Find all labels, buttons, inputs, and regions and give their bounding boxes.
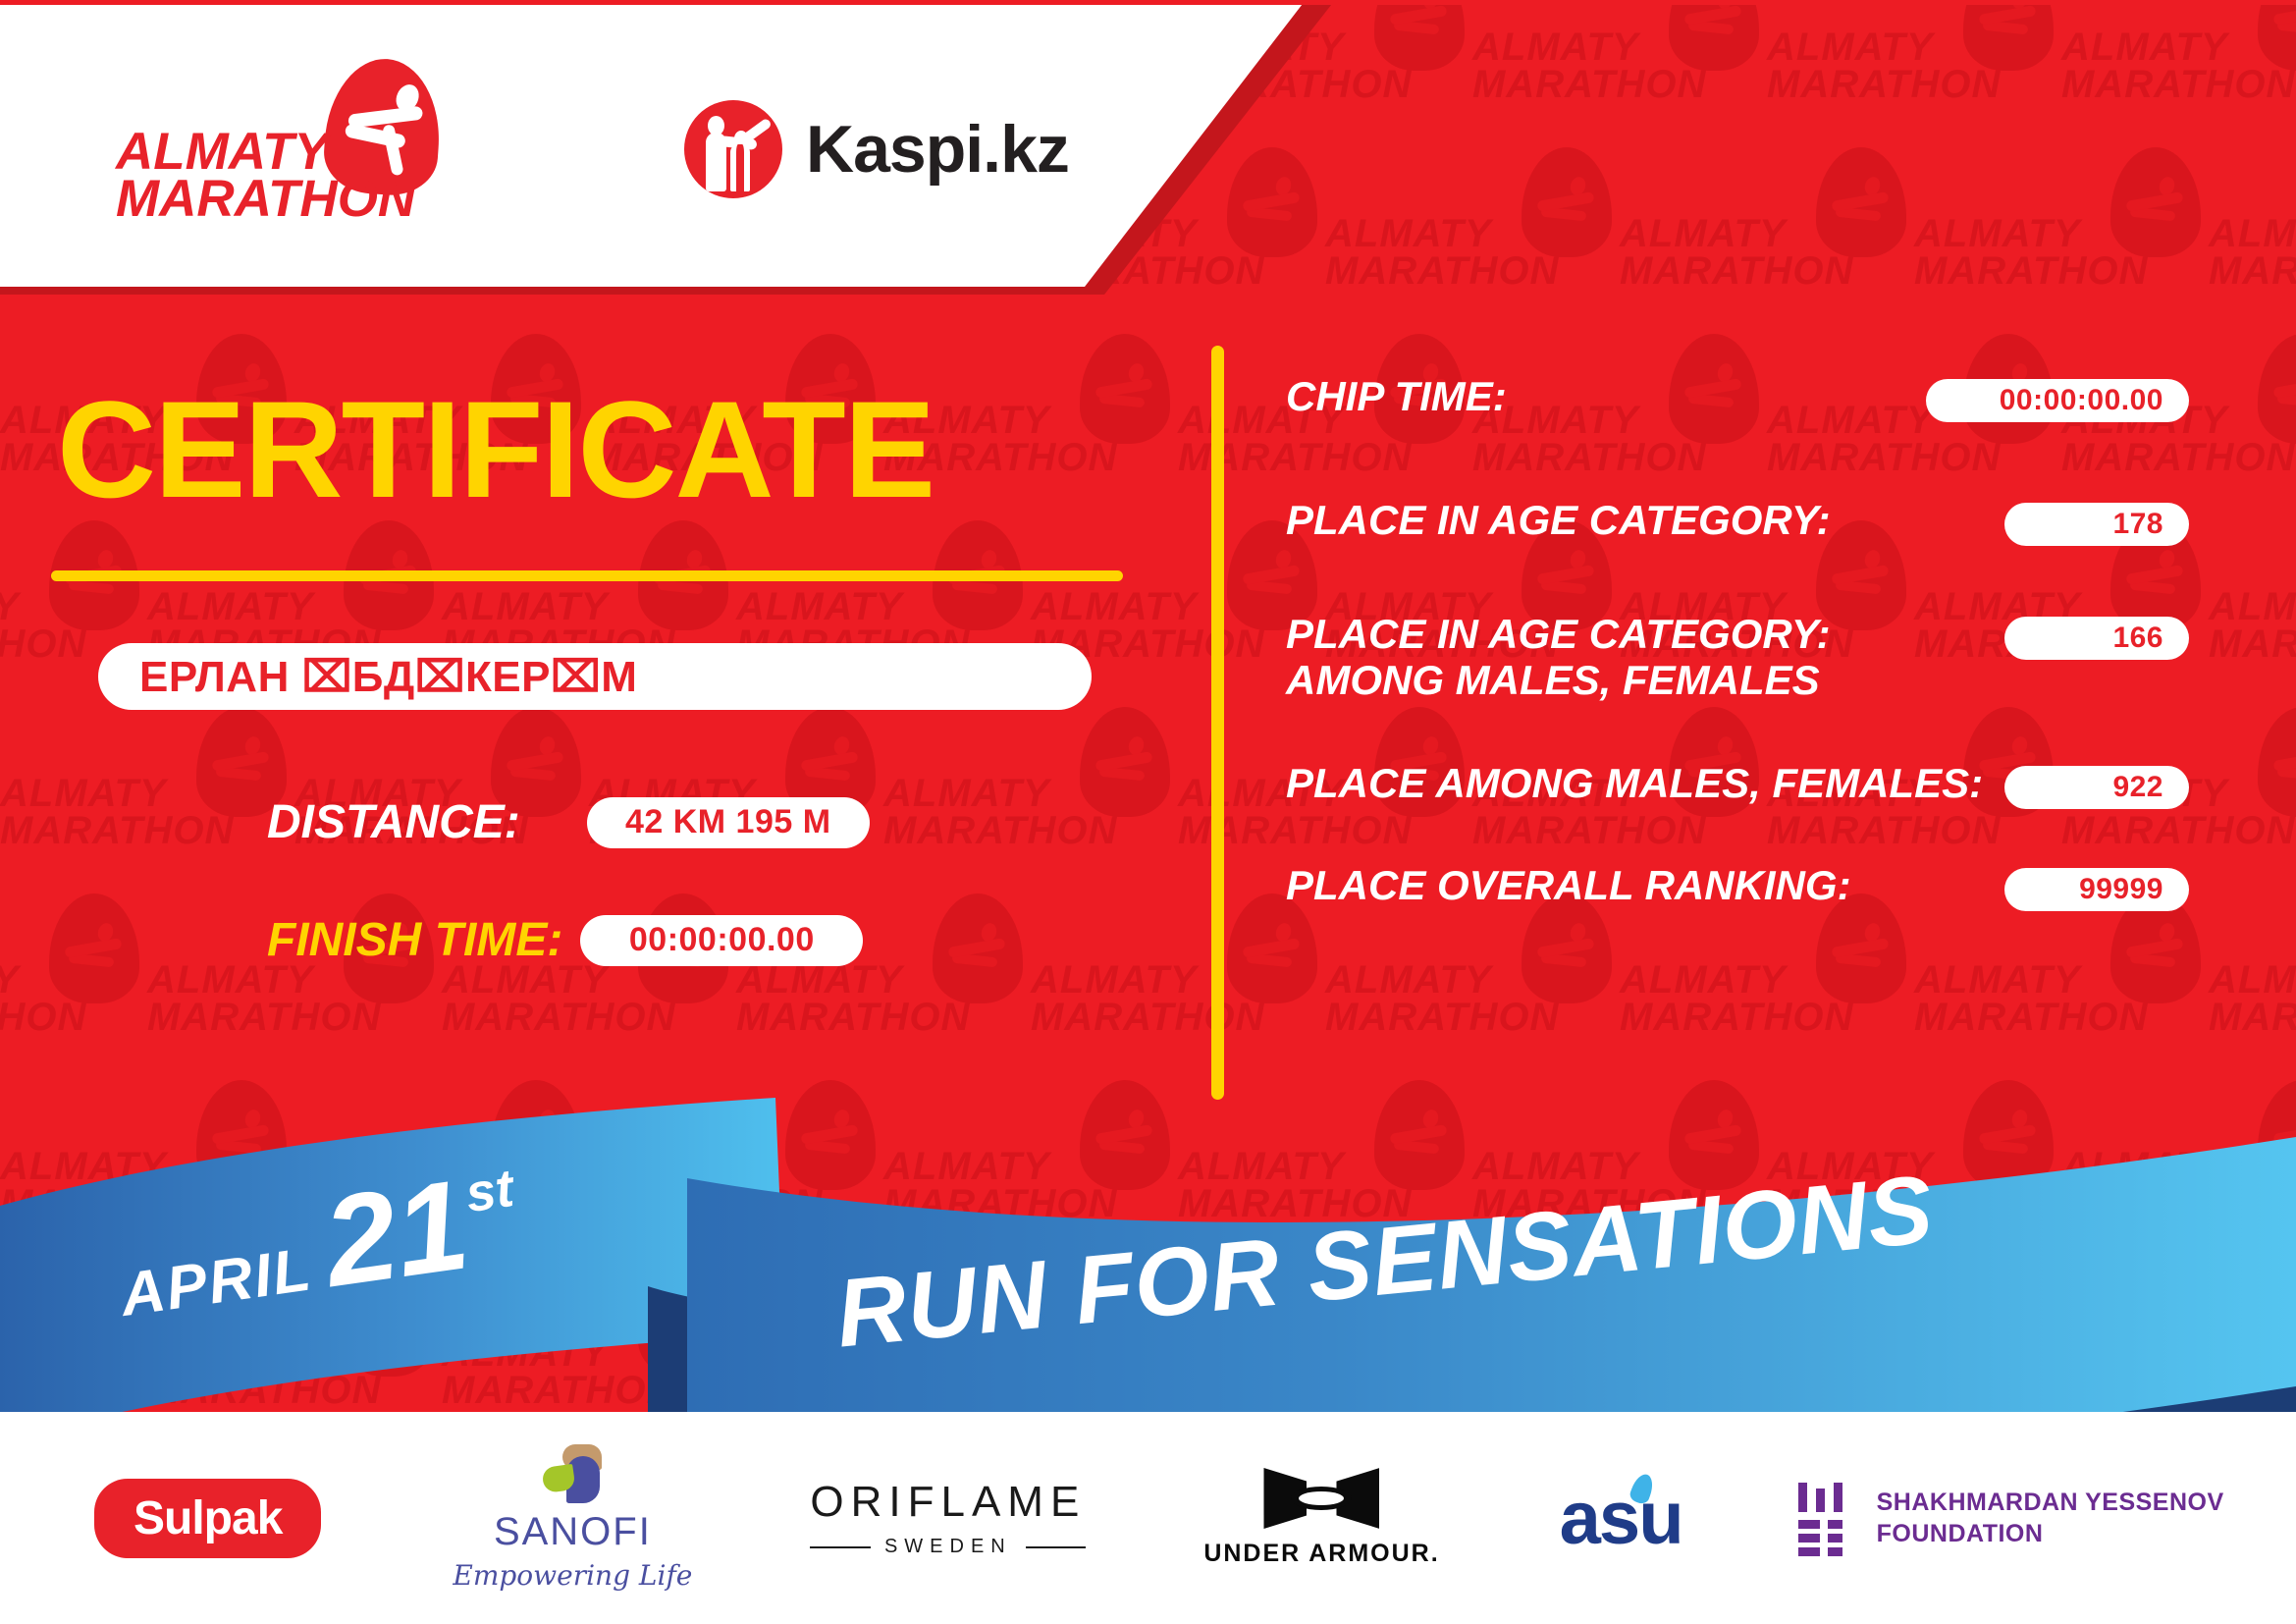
watermark-tile: ALMATYMARATHON [1031, 893, 1325, 1080]
distance-value-pill: 42 KM 195 M [587, 797, 870, 848]
sponsor-bar: Sulpak SANOFI Empowering Life ORIFLAME S… [0, 1412, 2296, 1624]
stat-value: 00:00:00.00 [2000, 384, 2163, 417]
kaspi-family-circle-icon [684, 100, 782, 198]
stat-value-pill: 99999 [2004, 868, 2189, 911]
top-red-rule [0, 0, 2296, 5]
stat-value-pill: 00:00:00.00 [1926, 379, 2189, 422]
stat-label: PLACE IN AGE CATEGORY: [1286, 497, 2004, 543]
watermark-tile: ALMATYMARATHON [1620, 147, 1914, 334]
watermark-tile: ALMATYMARATHON [0, 707, 294, 893]
distance-row: DISTANCE: 42 KM 195 M [267, 795, 870, 849]
stat-row: PLACE AMONG MALES, FEMALES: 922 [1286, 760, 2189, 809]
watermark-tile: ALMATYMARATHON [2061, 0, 2296, 147]
stat-label: PLACE IN AGE CATEGORY: AMONG MALES, FEMA… [1286, 611, 2004, 703]
kaspi-logo: Kaspi.kz [684, 95, 1069, 203]
sanofi-tagline: Empowering Life [453, 1559, 692, 1592]
under-armour-wordmark: UNDER ARMOUR. [1203, 1540, 1439, 1568]
sulpak-logo: Sulpak [94, 1479, 321, 1558]
runner-figure-icon [341, 78, 437, 174]
stats-column: CHIP TIME: 00:00:00.00 PLACE IN AGE CATE… [1286, 373, 2189, 956]
stat-value: 99999 [2079, 873, 2163, 906]
sulpak-wordmark: Sulpak [133, 1492, 282, 1544]
participant-name-value: ЕРЛАН ⌧БД⌧КЕР⌧М [139, 652, 637, 702]
sponsor-asu: asu [1560, 1476, 1682, 1561]
sponsor-oriflame: ORIFLAME SWEDEN [810, 1478, 1086, 1558]
stat-row: PLACE IN AGE CATEGORY: 178 [1286, 497, 2189, 546]
page-title: CERTIFICATE [57, 381, 934, 518]
stat-row: CHIP TIME: 00:00:00.00 [1286, 373, 2189, 422]
almaty-logo-line2: MARATHON [116, 169, 415, 229]
watermark-tile: ALMATYMARATHON [1767, 0, 2061, 147]
stat-value: 178 [2112, 508, 2163, 541]
sanofi-leaf-icon [537, 1444, 608, 1505]
stat-label: PLACE AMONG MALES, FEMALES: [1286, 760, 2004, 806]
watermark-tile: ALMATYMARATHON [2209, 893, 2296, 1080]
yessenov-line2: FOUNDATION [1877, 1518, 2224, 1550]
stat-label: PLACE OVERALL RANKING: [1286, 862, 2004, 908]
sponsor-sanofi: SANOFI Empowering Life [453, 1444, 692, 1592]
watermark-tile: ALMATYMARATHON [1472, 0, 1767, 147]
stat-value: 166 [2112, 622, 2163, 655]
oriflame-subline: SWEDEN [810, 1536, 1086, 1558]
title-underline [51, 570, 1123, 581]
stat-value-pill: 178 [2004, 503, 2189, 546]
oriflame-country: SWEDEN [884, 1536, 1012, 1558]
asu-label: asu [1560, 1477, 1682, 1560]
stat-value-pill: 922 [2004, 766, 2189, 809]
certificate-canvas: ALMATYMARATHONALMATYMARATHONALMATYMARATH… [0, 0, 2296, 1624]
finish-time-label: FINISH TIME: [267, 913, 562, 967]
finish-time-value-pill: 00:00:00.00 [580, 915, 863, 966]
watermark-tile: ALMATYMARATHON [1914, 147, 2209, 334]
oriflame-wordmark: ORIFLAME [810, 1478, 1086, 1527]
kaspi-wordmark: Kaspi.kz [806, 111, 1069, 188]
stat-row: PLACE IN AGE CATEGORY: AMONG MALES, FEMA… [1286, 611, 2189, 703]
yessenov-wordmark: SHAKHMARDAN YESSENOV FOUNDATION [1877, 1487, 2224, 1550]
stat-value-pill: 166 [2004, 617, 2189, 660]
distance-value: 42 KM 195 M [625, 803, 831, 841]
watermark-tile: ALMATYMARATHON [883, 707, 1178, 893]
asu-wordmark: asu [1560, 1476, 1682, 1561]
event-day: 21 [318, 1166, 474, 1300]
watermark-tile: ALMATYMARATHON [0, 893, 147, 1080]
finish-time-row: FINISH TIME: 00:00:00.00 [267, 913, 863, 967]
event-day-suffix: st [462, 1158, 517, 1224]
finish-time-value: 00:00:00.00 [629, 921, 815, 959]
sponsor-sulpak: Sulpak [94, 1479, 321, 1558]
under-armour-icon [1263, 1468, 1379, 1529]
participant-name-field: ЕРЛАН ⌧БД⌧КЕР⌧М [98, 643, 1092, 710]
stat-value: 922 [2112, 771, 2163, 804]
sponsor-yessenov-foundation: SHAKHMARDAN YESSENOV FOUNDATION [1798, 1483, 2224, 1553]
almaty-marathon-logo: ALMATY MARATHON [116, 61, 440, 208]
watermark-tile: ALMATYMARATHON [1325, 147, 1620, 334]
oriflame-rule-left [810, 1546, 871, 1548]
distance-label: DISTANCE: [267, 795, 520, 849]
yessenov-line1: SHAKHMARDAN YESSENOV [1877, 1487, 2224, 1519]
stat-row: PLACE OVERALL RANKING: 99999 [1286, 862, 2189, 911]
watermark-tile: ALMATYMARATHON [2209, 520, 2296, 707]
oriflame-rule-right [1026, 1546, 1087, 1548]
sanofi-wordmark: SANOFI [494, 1510, 652, 1554]
column-divider [1211, 346, 1224, 1100]
sponsor-under-armour: UNDER ARMOUR. [1203, 1468, 1439, 1568]
stat-label: CHIP TIME: [1286, 373, 1926, 419]
yessenov-bars-icon [1798, 1483, 1853, 1553]
watermark-tile: ALMATYMARATHON [2209, 147, 2296, 334]
